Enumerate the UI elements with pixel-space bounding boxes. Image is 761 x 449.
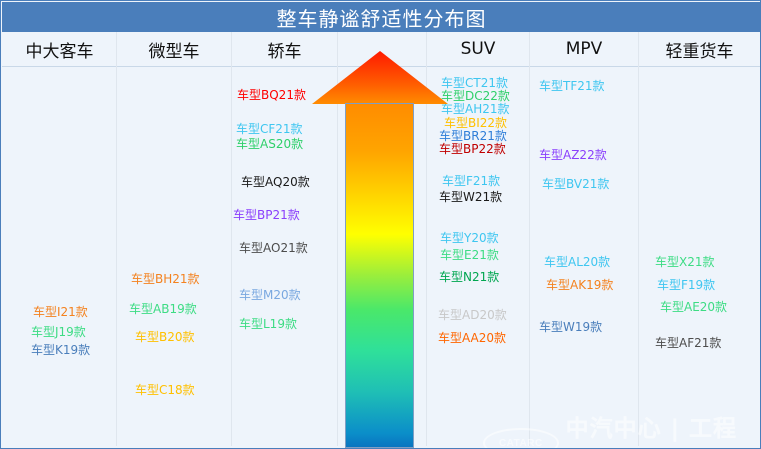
column-header-2: 微型车 <box>117 32 231 66</box>
column-divider <box>231 32 232 446</box>
model-label: 车型W19款 <box>539 321 602 334</box>
model-label: 车型BP21款 <box>233 209 300 222</box>
model-label: 车型AO21款 <box>239 242 308 255</box>
model-label: 车型AL20款 <box>544 256 610 269</box>
quietness-comfort-distribution-chart: 整车静谧舒适性分布图 中大客车微型车轿车SUVMPV轻重货车车型I21款车型J1… <box>0 0 761 449</box>
watermark: CATARC 中汽中心 | 工程院 <box>483 409 760 449</box>
watermark-brand-text: 中汽中心 | 工程院 <box>566 409 760 449</box>
model-label: 车型AZ22款 <box>539 149 607 162</box>
model-label: 车型F19款 <box>657 279 715 292</box>
column-divider <box>116 32 117 446</box>
model-label: 车型AK19款 <box>546 279 613 292</box>
model-label: 车型K19款 <box>31 344 90 357</box>
column-header-3: 轿车 <box>232 32 337 66</box>
model-label: 车型I21款 <box>33 306 88 319</box>
model-label: 车型B20款 <box>135 331 195 344</box>
model-label: 车型J19款 <box>31 326 86 339</box>
column-header-4: SUV <box>427 32 529 66</box>
model-label: 车型BP22款 <box>439 143 506 156</box>
model-label: 车型AQ20款 <box>241 176 310 189</box>
model-label: 车型M20款 <box>239 289 301 302</box>
column-header-5: MPV <box>530 32 638 66</box>
model-label: 车型AF21款 <box>655 337 721 350</box>
model-label: 车型BQ21款 <box>237 89 306 102</box>
catarc-logo-icon: CATARC <box>483 428 559 449</box>
column-divider <box>638 32 639 446</box>
model-label: 车型X21款 <box>655 256 715 269</box>
model-label: 车型AA20款 <box>438 332 506 345</box>
model-label: 车型E21款 <box>440 249 499 262</box>
model-label: 车型BV21款 <box>542 178 609 191</box>
column-header-1: 中大客车 <box>3 32 116 66</box>
model-label: 车型L19款 <box>239 318 297 331</box>
chart-title-bar: 整车静谧舒适性分布图 <box>2 2 761 32</box>
model-label: 车型C18款 <box>135 384 195 397</box>
model-label: 车型AD20款 <box>438 309 507 322</box>
column-header-6: 轻重货车 <box>639 32 760 66</box>
chart-title: 整车静谧舒适性分布图 <box>277 3 487 32</box>
model-label: 车型BH21款 <box>131 273 200 286</box>
scale-arrow-shaft <box>345 103 414 448</box>
model-label: 车型AE20款 <box>660 301 727 314</box>
model-label: 车型AB19款 <box>129 303 197 316</box>
model-label: 车型AS20款 <box>236 138 303 151</box>
model-label: 车型Y20款 <box>440 232 499 245</box>
model-label: 车型TF21款 <box>539 80 605 93</box>
model-label: 车型W21款 <box>439 191 502 204</box>
model-label: 车型CF21款 <box>236 123 303 136</box>
column-divider <box>529 32 530 446</box>
model-label: 车型AH21款 <box>441 103 510 116</box>
model-label: 车型F21款 <box>442 175 500 188</box>
model-label: 车型N21款 <box>439 271 499 284</box>
